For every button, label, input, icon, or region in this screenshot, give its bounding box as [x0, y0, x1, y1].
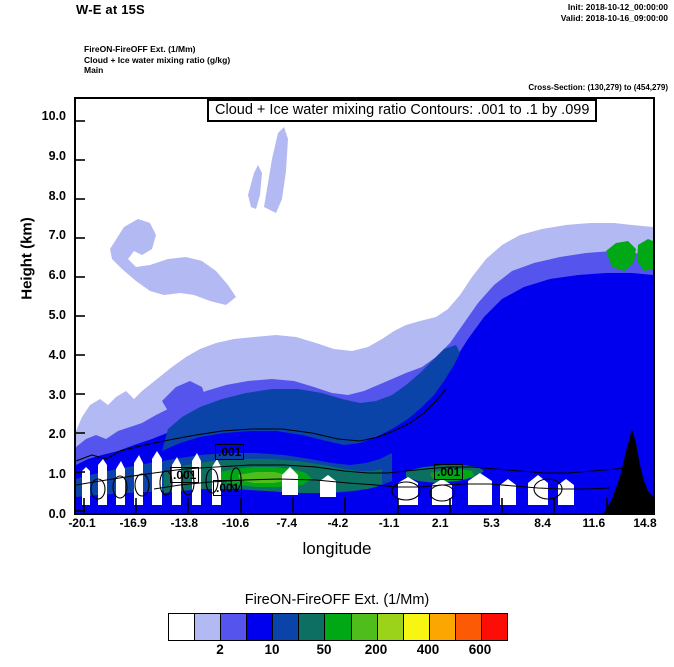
colorbar-swatch	[325, 614, 351, 640]
cross-section-endpoints: Cross-Section: (130,279) to (454,279)	[528, 83, 668, 92]
colorbar-swatch	[404, 614, 430, 640]
field-annotation: FireON-FireOFF Ext. (1/Mm) Cloud + Ice w…	[84, 44, 230, 76]
y-tick-label: 2.0	[20, 427, 66, 441]
valid-time: Valid: 2018-10-16_09:00:00	[561, 13, 668, 24]
colorbar-swatch	[352, 614, 378, 640]
annotation-line-1: FireON-FireOFF Ext. (1/Mm)	[84, 44, 230, 55]
colorbar-tick-label: 2	[190, 642, 250, 657]
colorbar-swatch	[430, 614, 456, 640]
contour-title-box: Cloud + Ice water mixing ratio Contours:…	[207, 99, 597, 122]
colorbar-tick-label: 600	[450, 642, 510, 657]
colorbar-tick-label: 10	[242, 642, 302, 657]
y-tick-label: 7.0	[20, 228, 66, 242]
colorbar-swatch	[169, 614, 195, 640]
colorbar-swatch	[247, 614, 273, 640]
y-tick-label: 5.0	[20, 308, 66, 322]
colorbar-swatch	[299, 614, 325, 640]
contour-label: .001	[170, 467, 199, 483]
annotation-line-2: Cloud + Ice water mixing ratio (g/kg)	[84, 55, 230, 66]
contour-label: .001	[434, 464, 463, 480]
y-tick-label: 9.0	[20, 149, 66, 163]
contour-label: .001	[213, 480, 242, 496]
init-time: Init: 2018-10-12_00:00:00	[561, 2, 668, 13]
annotation-line-3: Main	[84, 65, 230, 76]
colorbar-swatch	[221, 614, 247, 640]
plot-area	[74, 97, 655, 515]
page-title: W-E at 15S	[76, 2, 145, 17]
y-tick-label: 1.0	[20, 467, 66, 481]
colorbar-tick-label: 50	[294, 642, 354, 657]
colorbar-tick-label: 400	[398, 642, 458, 657]
x-axis-title: longitude	[0, 539, 674, 559]
colorbar-swatch	[456, 614, 482, 640]
run-times: Init: 2018-10-12_00:00:00 Valid: 2018-10…	[561, 2, 668, 24]
colorbar-swatch	[378, 614, 404, 640]
colorbar-tick-label: 200	[346, 642, 406, 657]
y-axis-ticks: 0.01.02.03.04.05.06.07.08.09.010.0	[20, 0, 66, 667]
y-tick-label: 10.0	[20, 109, 66, 123]
colorbar-title: FireON-FireOFF Ext. (1/Mm)	[0, 592, 674, 608]
y-tick-label: 8.0	[20, 189, 66, 203]
x-tick-label: 14.8	[615, 516, 674, 530]
colorbar-swatch	[482, 614, 507, 640]
y-tick-label: 4.0	[20, 348, 66, 362]
colorbar-swatch	[273, 614, 299, 640]
colorbar-swatch	[195, 614, 221, 640]
cross-section-plot-page: W-E at 15S Init: 2018-10-12_00:00:00 Val…	[0, 0, 674, 667]
colorbar-ticks: 21050200400600	[0, 642, 674, 664]
contour-field	[76, 99, 653, 513]
colorbar	[168, 613, 508, 641]
x-axis-ticks: -20.1-16.9-13.8-10.6-7.4-4.2-1.12.15.38.…	[0, 516, 674, 536]
y-tick-label: 6.0	[20, 268, 66, 282]
contour-label: .001	[215, 444, 244, 460]
y-tick-label: 3.0	[20, 388, 66, 402]
